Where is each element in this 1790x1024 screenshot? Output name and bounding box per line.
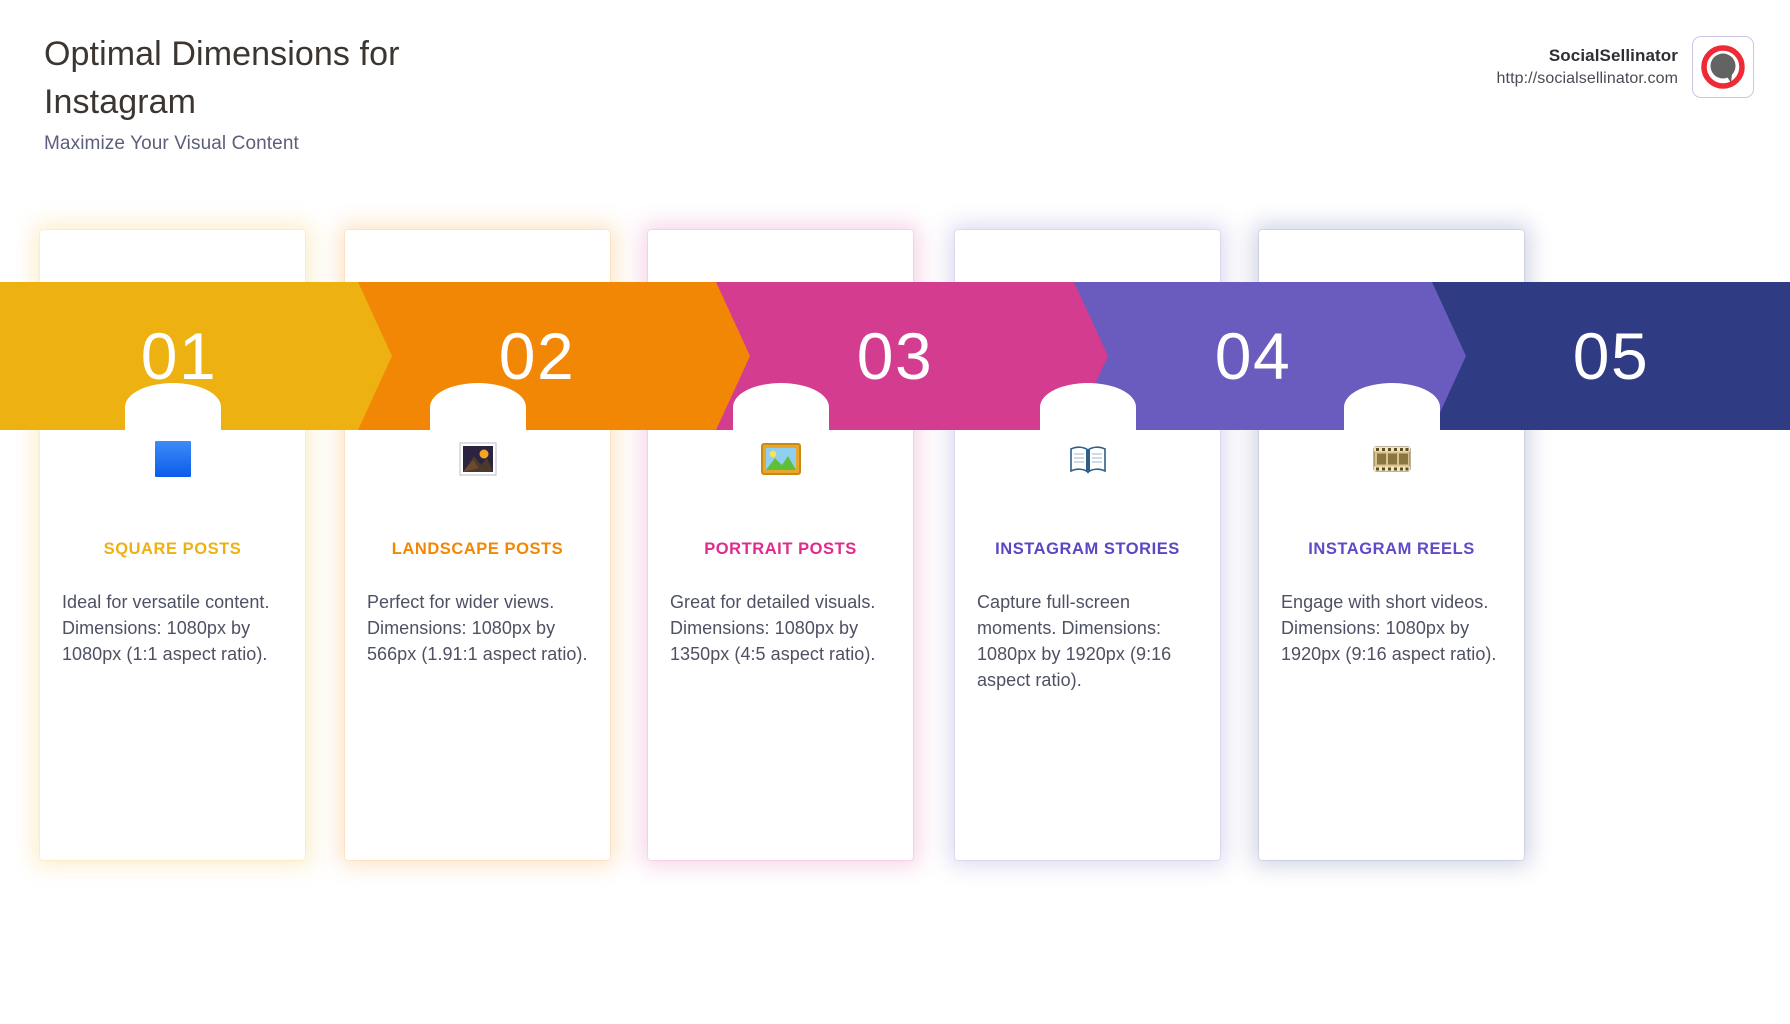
card-description: Ideal for versatile content. Dimensions:… xyxy=(62,589,283,667)
page-subtitle: Maximize Your Visual Content xyxy=(44,133,299,155)
card-heading: LANDSCAPE POSTS xyxy=(367,540,588,559)
card-body: INSTAGRAM STORIESCapture full-screen mom… xyxy=(955,540,1220,693)
card-heading: PORTRAIT POSTS xyxy=(670,540,891,559)
step-card[interactable]: PORTRAIT POSTSGreat for detailed visuals… xyxy=(648,230,913,860)
framed-picture-icon xyxy=(648,438,913,490)
card-body: SQUARE POSTSIdeal for versatile content.… xyxy=(40,540,305,667)
header: Optimal Dimensions for Instagram Maximiz… xyxy=(0,0,1790,200)
card-description: Capture full-screen moments. Dimensions:… xyxy=(977,589,1198,693)
open-book-icon xyxy=(955,438,1220,490)
brand-name: SocialSellinator xyxy=(1497,45,1678,68)
page-title: Optimal Dimensions for Instagram xyxy=(44,30,514,126)
framed-photo-icon xyxy=(345,438,610,490)
brand-text: SocialSellinator http://socialsellinator… xyxy=(1497,45,1678,90)
step-card[interactable]: INSTAGRAM STORIESCapture full-screen mom… xyxy=(955,230,1220,860)
step-card[interactable]: SQUARE POSTSIdeal for versatile content.… xyxy=(40,230,305,860)
card-heading: SQUARE POSTS xyxy=(62,540,283,559)
speech-bubble-ring-logo-icon xyxy=(1700,44,1746,90)
card-body: INSTAGRAM REELSEngage with short videos.… xyxy=(1259,540,1524,667)
card-body: LANDSCAPE POSTSPerfect for wider views. … xyxy=(345,540,610,667)
card-description: Perfect for wider views. Dimensions: 108… xyxy=(367,589,588,667)
brand-url[interactable]: http://socialsellinator.com xyxy=(1497,68,1678,90)
step-card[interactable]: INSTAGRAM REELSEngage with short videos.… xyxy=(1259,230,1524,860)
card-heading: INSTAGRAM STORIES xyxy=(977,540,1198,559)
cards-row: SQUARE POSTSIdeal for versatile content.… xyxy=(0,230,1790,860)
brand-block: SocialSellinator http://socialsellinator… xyxy=(1497,36,1754,98)
card-heading: INSTAGRAM REELS xyxy=(1281,540,1502,559)
card-description: Great for detailed visuals. Dimensions: … xyxy=(670,589,891,667)
film-frames-icon xyxy=(1259,438,1524,490)
brand-logo[interactable] xyxy=(1692,36,1754,98)
infographic-page: Optimal Dimensions for Instagram Maximiz… xyxy=(0,0,1790,1024)
card-body: PORTRAIT POSTSGreat for detailed visuals… xyxy=(648,540,913,667)
blue-square-icon xyxy=(40,438,305,490)
step-card[interactable]: LANDSCAPE POSTSPerfect for wider views. … xyxy=(345,230,610,860)
card-description: Engage with short videos. Dimensions: 10… xyxy=(1281,589,1502,667)
